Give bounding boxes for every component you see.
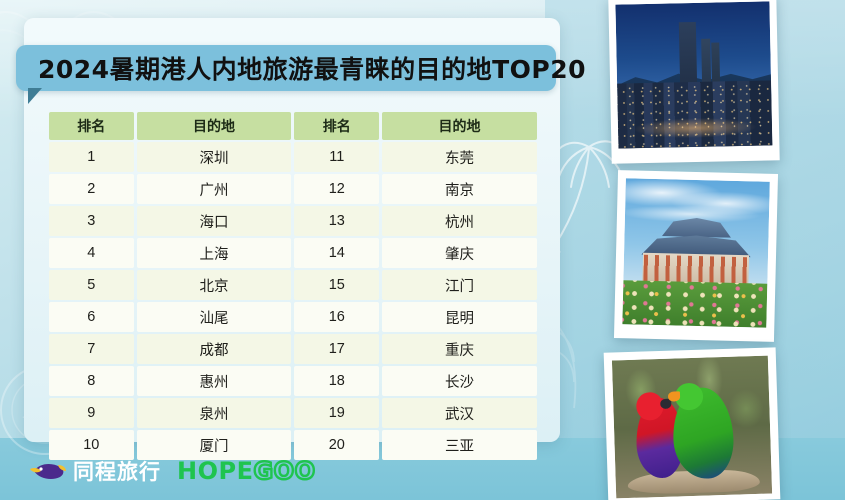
cell-rank-right: 18 [294,366,379,396]
cell-dest-left: 海口 [137,206,292,236]
cell-rank-left: 5 [49,270,134,300]
column-header-rank-left: 排名 [49,112,134,140]
cell-dest-right: 江门 [382,270,537,300]
hopegoo-logo: HOPEGOO [177,457,316,485]
cell-dest-left: 泉州 [137,398,292,428]
table-row: 7 成都 17 重庆 [49,334,537,364]
cell-dest-right: 三亚 [382,430,537,460]
table-row: 4 上海 14 肇庆 [49,238,537,268]
ranking-table: 排名 目的地 排名 目的地 1 深圳 11 东莞 2 广州 12 南京 [46,110,540,462]
cell-dest-left: 广州 [137,174,292,204]
city-skyline-night-photo [608,0,779,164]
cell-rank-right: 12 [294,174,379,204]
cell-rank-left: 2 [49,174,134,204]
title-banner: 2024暑期港人内地旅游最青睐的目的地TOP20 [16,45,556,91]
cell-rank-right: 17 [294,334,379,364]
tongcheng-logo: 同程旅行 [30,456,161,486]
cell-rank-right: 15 [294,270,379,300]
table-row: 9 泉州 19 武汉 [49,398,537,428]
ranking-table-body: 1 深圳 11 东莞 2 广州 12 南京 3 海口 13 杭州 [49,142,537,460]
ranking-table-wrapper: 排名 目的地 排名 目的地 1 深圳 11 东莞 2 广州 12 南京 [46,110,540,462]
city-skyline-night-photo-image [615,1,772,148]
table-row: 1 深圳 11 东莞 [49,142,537,172]
footer-logos: 同程旅行 HOPEGOO [30,456,316,486]
cell-rank-left: 7 [49,334,134,364]
column-header-dest-right: 目的地 [382,112,537,140]
hopegoo-outline-text: GOO [253,457,315,485]
cell-dest-right: 南京 [382,174,537,204]
cell-rank-right: 13 [294,206,379,236]
cell-rank-right: 14 [294,238,379,268]
poster-canvas: 2024暑期港人内地旅游最青睐的目的地TOP20 排名 目的地 排名 目的地 1… [0,0,845,500]
cell-rank-left: 9 [49,398,134,428]
tongcheng-label: 同程旅行 [73,456,161,486]
cell-dest-left: 深圳 [137,142,292,172]
cell-rank-left: 4 [49,238,134,268]
table-row: 5 北京 15 江门 [49,270,537,300]
table-row: 2 广州 12 南京 [49,174,537,204]
title-banner-tail [28,88,42,104]
tongcheng-bird-icon [30,460,66,482]
cell-dest-right: 武汉 [382,398,537,428]
cell-dest-right: 肇庆 [382,238,537,268]
cell-dest-right: 重庆 [382,334,537,364]
cell-rank-left: 8 [49,366,134,396]
cell-dest-right: 杭州 [382,206,537,236]
memorial-hall-flowers-photo-image [622,178,770,327]
cell-dest-left: 惠州 [137,366,292,396]
page-title: 2024暑期港人内地旅游最青睐的目的地TOP20 [38,50,586,86]
cell-rank-right: 11 [294,142,379,172]
cell-rank-left: 6 [49,302,134,332]
cell-dest-left: 上海 [137,238,292,268]
cell-dest-left: 成都 [137,334,292,364]
cell-rank-left: 1 [49,142,134,172]
table-header-row: 排名 目的地 排名 目的地 [49,112,537,140]
two-parrots-photo [604,347,781,500]
hopegoo-solid-text: HOPE [177,457,253,485]
cell-dest-left: 北京 [137,270,292,300]
table-row: 3 海口 13 杭州 [49,206,537,236]
column-header-rank-right: 排名 [294,112,379,140]
cell-dest-right: 长沙 [382,366,537,396]
table-row: 6 汕尾 16 昆明 [49,302,537,332]
table-row: 8 惠州 18 长沙 [49,366,537,396]
memorial-hall-flowers-photo [614,170,778,342]
cell-dest-left: 汕尾 [137,302,292,332]
column-header-dest-left: 目的地 [137,112,292,140]
cell-rank-right: 16 [294,302,379,332]
two-parrots-photo-image [612,356,772,499]
cell-rank-right: 19 [294,398,379,428]
cell-dest-right: 昆明 [382,302,537,332]
cell-dest-right: 东莞 [382,142,537,172]
cell-rank-left: 3 [49,206,134,236]
